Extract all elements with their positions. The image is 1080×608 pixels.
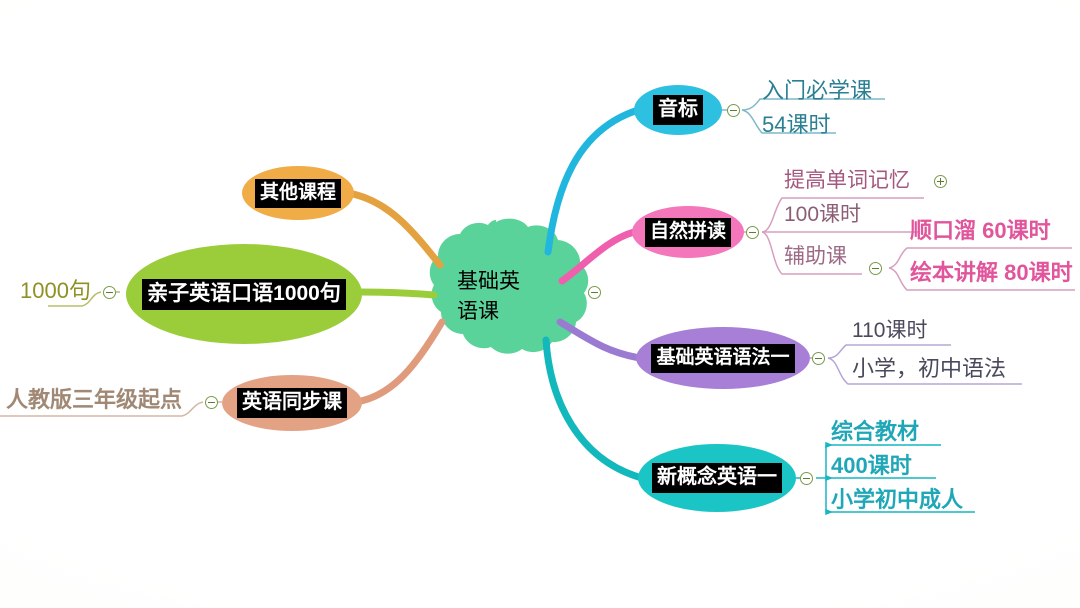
toggle-yinbiao[interactable] bbox=[727, 104, 740, 117]
node-qinzi-label: 亲子英语口语1000句 bbox=[142, 279, 346, 310]
leaf-qinzi-0[interactable]: 1000句 bbox=[20, 280, 91, 302]
toggle-qinzi[interactable] bbox=[103, 286, 116, 299]
toggle-fuzhuke[interactable] bbox=[869, 262, 882, 275]
node-qitakecheng[interactable]: 其他课程 bbox=[242, 166, 354, 220]
node-xingainian[interactable]: 新概念英语一 bbox=[638, 444, 796, 512]
node-yinbiao[interactable]: 音标 bbox=[634, 85, 722, 135]
node-center-label: 基础英语课 bbox=[457, 265, 535, 325]
node-qitakecheng-label: 其他课程 bbox=[255, 179, 341, 208]
node-ziranpindu[interactable]: 自然拼读 bbox=[632, 206, 744, 258]
node-yufa-label: 基础英语语法一 bbox=[651, 344, 794, 373]
node-yinbiao-label: 音标 bbox=[653, 95, 703, 125]
leaf-ziranpindu-0[interactable]: 提高单词记忆 bbox=[784, 170, 910, 191]
node-qinzi[interactable]: 亲子英语口语1000句 bbox=[126, 244, 362, 344]
toggle-xingainian[interactable] bbox=[800, 472, 813, 485]
leaf-fuzhuke-0[interactable]: 顺口溜 60课时 bbox=[910, 220, 1051, 242]
toggle-tongbu[interactable] bbox=[205, 396, 218, 409]
leaf-yufa-1[interactable]: 小学，初中语法 bbox=[852, 358, 1006, 380]
node-yufa[interactable]: 基础英语语法一 bbox=[636, 327, 810, 389]
toggle-ziranpindu[interactable] bbox=[746, 226, 759, 239]
leaf-yufa-0[interactable]: 110课时 bbox=[852, 320, 927, 341]
leaf-ziranpindu-2[interactable]: 辅助课 bbox=[784, 246, 847, 267]
leaf-ziranpindu-1[interactable]: 100课时 bbox=[784, 204, 861, 225]
leaf-xingainian-2[interactable]: 小学初中成人 bbox=[831, 489, 963, 511]
leaf-xingainian-0[interactable]: 综合教材 bbox=[831, 421, 919, 443]
mindmap-canvas: 基础英语课 音标 自然拼读 基础英语语法一 新概念英语一 其他课程 亲子英语口语… bbox=[0, 0, 1080, 608]
toggle-center[interactable] bbox=[588, 286, 601, 299]
node-tongbu[interactable]: 英语同步课 bbox=[222, 375, 362, 431]
leaf-yinbiao-1[interactable]: 54课时 bbox=[762, 114, 830, 136]
leaf-tongbu-0[interactable]: 人教版三年级起点 bbox=[6, 389, 182, 411]
leaf-xingainian-1[interactable]: 400课时 bbox=[831, 455, 912, 477]
toggle-tigao-danci-jiyi[interactable] bbox=[934, 175, 947, 188]
leaf-fuzhuke-1[interactable]: 绘本讲解 80课时 bbox=[910, 262, 1073, 284]
node-tongbu-label: 英语同步课 bbox=[237, 388, 347, 418]
leaf-yinbiao-0[interactable]: 入门必学课 bbox=[762, 80, 872, 102]
node-ziranpindu-label: 自然拼读 bbox=[645, 218, 731, 247]
node-center[interactable]: 基础英语课 bbox=[418, 222, 574, 368]
toggle-yufa[interactable] bbox=[812, 352, 825, 365]
node-xingainian-label: 新概念英语一 bbox=[652, 463, 782, 493]
